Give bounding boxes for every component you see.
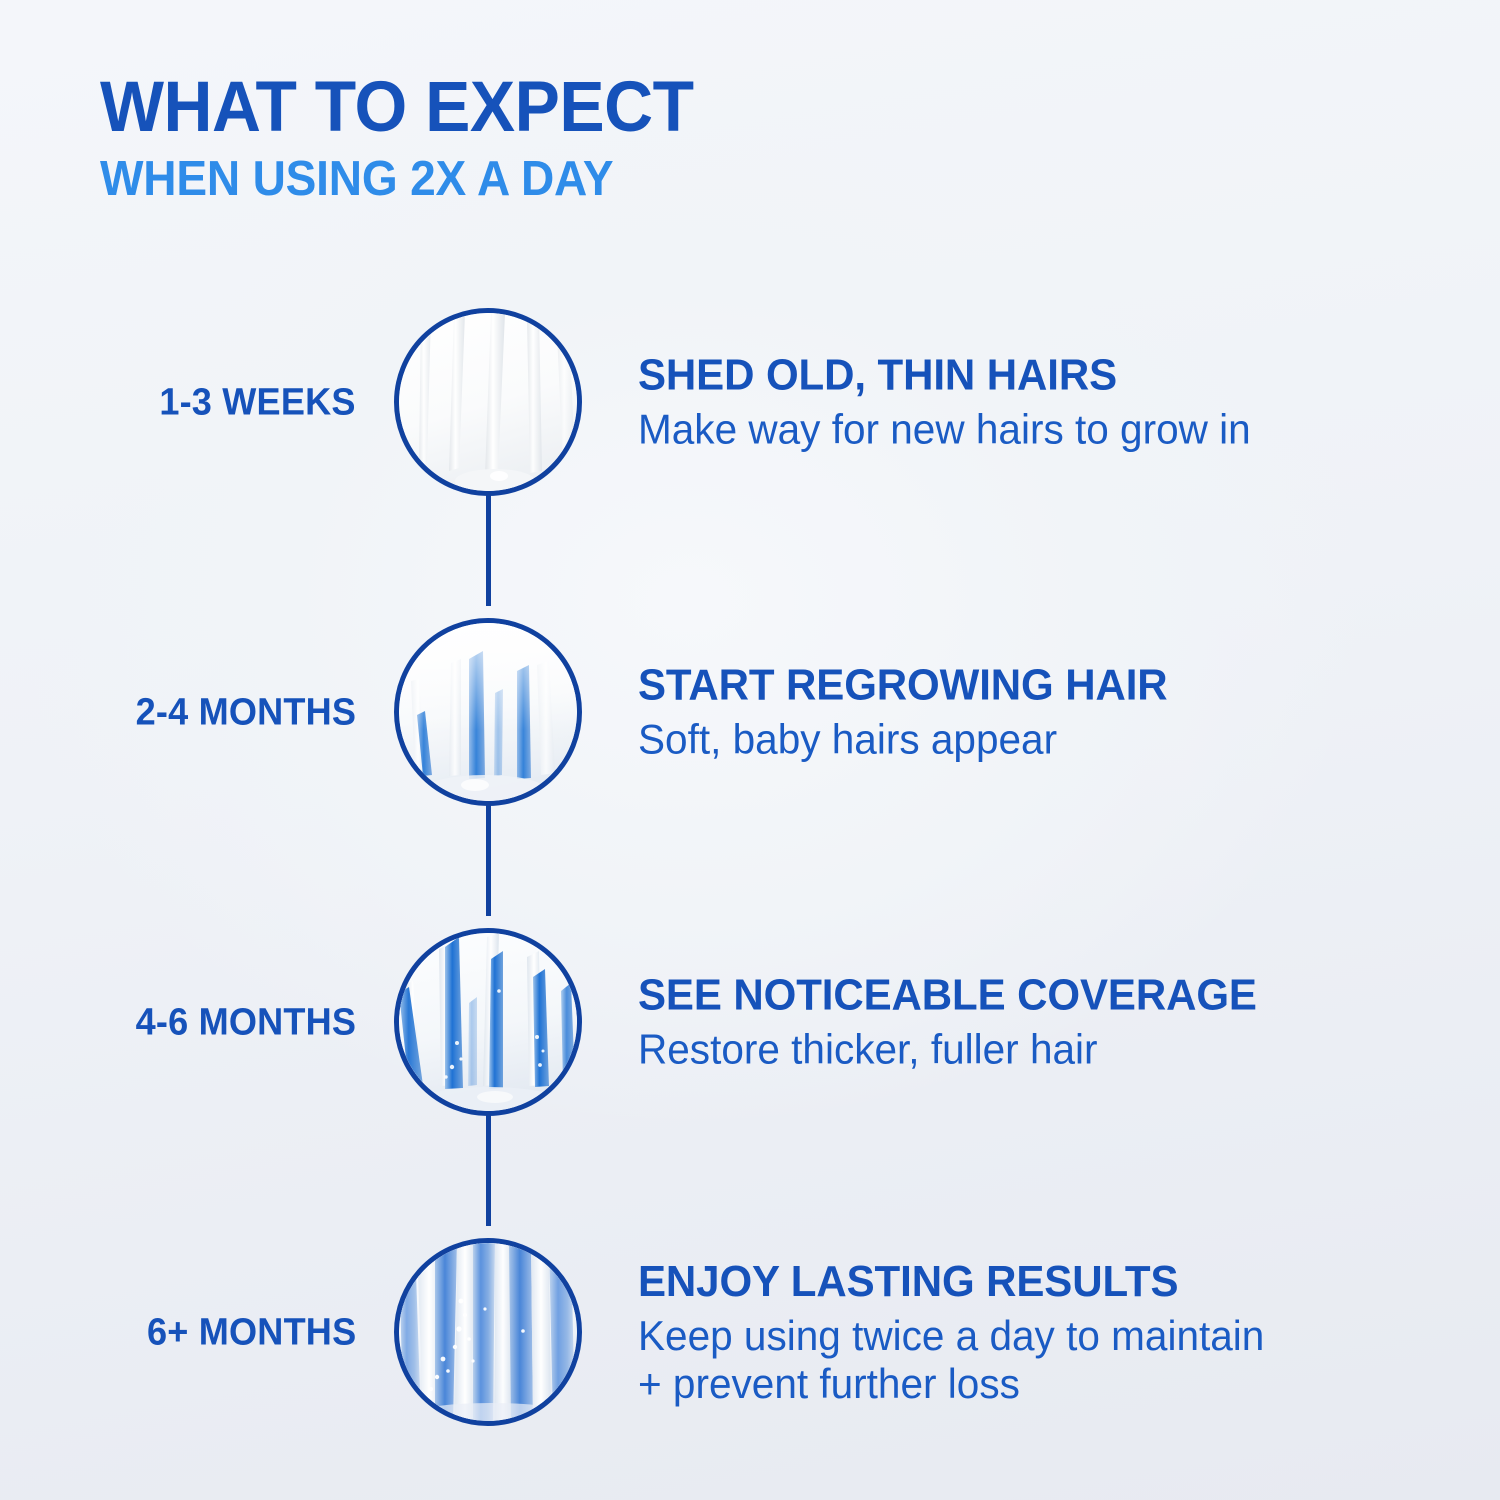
step-time-label-text: 2-4 MONTHS xyxy=(135,692,356,735)
hair-strands-dense-blue-photo xyxy=(399,933,577,1111)
step-time-label-text: 1-3 WEEKS xyxy=(160,382,356,425)
step-heading: ENJOY LASTING RESULTS xyxy=(638,1259,1402,1305)
step-time-label: 1-3 WEEKS xyxy=(60,382,356,425)
step-image-bubble xyxy=(394,1238,582,1426)
timeline-step: 6+ MONTHS xyxy=(0,1238,1500,1428)
step-subtext: Restore thicker, fuller hair xyxy=(638,1025,1410,1073)
page-subtitle: WHEN USING 2X A DAY xyxy=(100,155,1134,204)
timeline: 1-3 WEEKS xyxy=(0,290,1500,1470)
page-title: WHAT TO EXPECT xyxy=(100,74,1151,143)
step-text-block: START REGROWING HAIR Soft, baby hairs ap… xyxy=(638,663,1438,764)
step-text-block: SEE NOTICEABLE COVERAGE Restore thicker,… xyxy=(638,973,1438,1074)
step-heading: SHED OLD, THIN HAIRS xyxy=(638,353,1402,399)
timeline-connector-3 xyxy=(486,1106,491,1226)
step-subtext-line: Soft, baby hairs appear xyxy=(638,715,1410,763)
hair-strands-sparse-blue-photo xyxy=(399,623,577,801)
step-subtext: Make way for new hairs to grow in xyxy=(638,405,1410,453)
step-text-block: SHED OLD, THIN HAIRS Make way for new ha… xyxy=(638,353,1438,454)
what-to-expect-infographic: WHAT TO EXPECT WHEN USING 2X A DAY 1-3 W… xyxy=(0,0,1500,1500)
timeline-step: 1-3 WEEKS xyxy=(0,308,1500,498)
step-subtext: Soft, baby hairs appear xyxy=(638,715,1410,763)
timeline-connector-1 xyxy=(486,486,491,606)
step-subtext-line: + prevent further loss xyxy=(638,1359,1410,1407)
header: WHAT TO EXPECT WHEN USING 2X A DAY xyxy=(100,74,1200,204)
step-subtext-line: Make way for new hairs to grow in xyxy=(638,405,1410,453)
timeline-connector-2 xyxy=(486,796,491,916)
step-image-bubble xyxy=(394,618,582,806)
step-subtext: Keep using twice a day to maintain + pre… xyxy=(638,1312,1410,1408)
step-text-block: ENJOY LASTING RESULTS Keep using twice a… xyxy=(638,1259,1438,1408)
step-subtext-line: Keep using twice a day to maintain xyxy=(638,1312,1410,1360)
step-time-label-text: 6+ MONTHS xyxy=(147,1312,356,1355)
step-time-label: 4-6 MONTHS xyxy=(60,1002,356,1045)
step-image-bubble xyxy=(394,928,582,1116)
timeline-step: 4-6 MONTHS xyxy=(0,928,1500,1118)
timeline-step: 2-4 MONTHS xyxy=(0,618,1500,808)
step-time-label: 2-4 MONTHS xyxy=(60,692,356,735)
step-time-label: 6+ MONTHS xyxy=(60,1312,356,1355)
step-heading: START REGROWING HAIR xyxy=(638,663,1402,709)
hair-strands-thick-full-blue-photo xyxy=(399,1243,577,1421)
step-subtext-line: Restore thicker, fuller hair xyxy=(638,1025,1410,1073)
hair-strands-thin-pale-photo xyxy=(399,313,577,491)
step-time-label-text: 4-6 MONTHS xyxy=(135,1002,356,1045)
step-image-bubble xyxy=(394,308,582,496)
step-heading: SEE NOTICEABLE COVERAGE xyxy=(638,973,1402,1019)
